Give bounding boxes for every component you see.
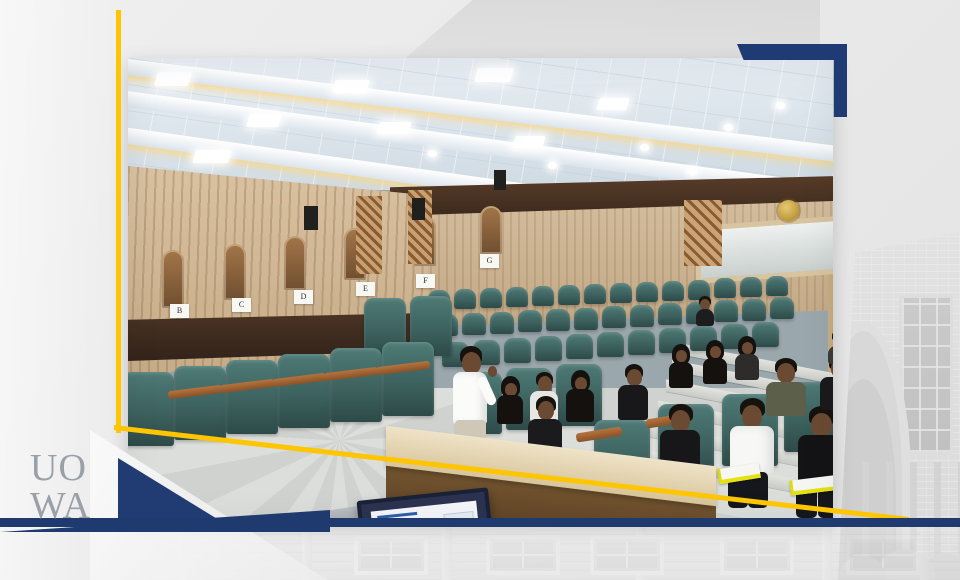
logo-line-2: WA bbox=[30, 488, 91, 524]
attendee-torso bbox=[828, 346, 833, 364]
ceiling-panel-light bbox=[332, 80, 370, 93]
seat bbox=[610, 283, 632, 303]
seat bbox=[574, 308, 598, 330]
seat bbox=[597, 332, 624, 357]
ceiling bbox=[128, 58, 833, 190]
attendee-head bbox=[710, 346, 721, 358]
facade-pilaster bbox=[920, 518, 930, 580]
presenter-head bbox=[462, 352, 481, 374]
logo-line-1: UO bbox=[30, 450, 91, 486]
wall-speaker bbox=[412, 198, 425, 220]
seat bbox=[740, 277, 762, 297]
facade-window bbox=[590, 535, 664, 575]
seat bbox=[546, 309, 570, 331]
seat bbox=[628, 330, 655, 355]
seat bbox=[226, 360, 278, 434]
building-bay-window bbox=[899, 295, 953, 455]
seat bbox=[506, 287, 528, 307]
attendee-head bbox=[538, 376, 552, 392]
attendee-torso bbox=[618, 385, 648, 420]
attendee-torso bbox=[735, 354, 759, 380]
attendee-head bbox=[627, 369, 642, 386]
seat bbox=[480, 288, 502, 308]
seat bbox=[462, 313, 486, 335]
ceiling-downlight bbox=[428, 150, 437, 157]
seat bbox=[454, 289, 476, 309]
seat bbox=[535, 336, 562, 361]
seat bbox=[602, 306, 626, 328]
seat bbox=[382, 342, 434, 416]
attendee bbox=[696, 296, 714, 326]
ceiling-downlight bbox=[724, 124, 733, 131]
wall-niche bbox=[480, 206, 502, 254]
bottom-navy-band bbox=[0, 518, 960, 527]
ceiling-downlight bbox=[548, 162, 557, 169]
seat bbox=[658, 303, 682, 325]
lecture-hall-photo: B C D E F G bbox=[128, 58, 833, 520]
seat bbox=[636, 282, 658, 302]
seat bbox=[330, 348, 382, 422]
ceiling-panel-light bbox=[376, 122, 411, 134]
facade-window bbox=[486, 535, 560, 575]
attendee bbox=[764, 358, 808, 416]
seat bbox=[532, 286, 554, 306]
brick-texture bbox=[838, 232, 960, 580]
uowa-logo: UO WA bbox=[30, 450, 91, 525]
attendee bbox=[618, 364, 648, 420]
attendee bbox=[496, 376, 524, 424]
facade-pilaster bbox=[442, 518, 452, 580]
yellow-vertical-rule bbox=[116, 10, 121, 433]
wall-emblem bbox=[778, 200, 799, 221]
ceiling-panel-light bbox=[192, 150, 232, 163]
attendee-head bbox=[538, 401, 554, 420]
attendee bbox=[702, 340, 728, 384]
attendee bbox=[566, 370, 594, 422]
attendee-head bbox=[777, 363, 795, 383]
attendee-torso bbox=[820, 377, 833, 410]
seat bbox=[490, 312, 514, 334]
seat bbox=[766, 276, 788, 296]
seat bbox=[518, 310, 542, 332]
attendee-head bbox=[742, 405, 762, 428]
campus-arch-watermark bbox=[838, 232, 960, 580]
hedge-row bbox=[838, 542, 960, 580]
wall-speaker bbox=[304, 206, 318, 230]
seat bbox=[504, 338, 531, 363]
seat bbox=[714, 300, 738, 322]
attendee bbox=[668, 344, 694, 388]
facade-window bbox=[354, 535, 428, 575]
facade-pilaster bbox=[636, 518, 646, 580]
seat bbox=[174, 366, 226, 440]
seat bbox=[714, 278, 736, 298]
seat bbox=[558, 285, 580, 305]
ceiling-panel-light bbox=[246, 114, 282, 127]
attendee-torso bbox=[497, 395, 523, 424]
seat bbox=[770, 297, 794, 319]
attendee-torso bbox=[566, 389, 594, 422]
attendee-torso bbox=[703, 358, 727, 384]
seat bbox=[630, 305, 654, 327]
attendee-head bbox=[811, 413, 832, 437]
attendee bbox=[734, 336, 760, 380]
attendee bbox=[796, 406, 833, 518]
ceiling-downlight bbox=[640, 144, 649, 151]
seat bbox=[566, 334, 593, 359]
facade-window bbox=[846, 535, 920, 575]
facade-pilaster bbox=[822, 518, 832, 580]
seat bbox=[742, 299, 766, 321]
seat bbox=[584, 284, 606, 304]
attendee-head bbox=[742, 342, 753, 354]
wall-speaker bbox=[494, 170, 506, 190]
attendee-torso bbox=[696, 309, 714, 326]
ceiling-panel-light bbox=[154, 72, 192, 86]
ceiling-panel-light bbox=[512, 136, 545, 148]
facade-window bbox=[720, 535, 794, 575]
seat bbox=[662, 281, 684, 301]
arch-building-graphic bbox=[838, 232, 960, 580]
attendee-head bbox=[676, 350, 687, 362]
banner-canvas: B C D E F G bbox=[0, 0, 960, 580]
seat bbox=[278, 354, 330, 428]
attendee-torso bbox=[766, 382, 806, 416]
attendee-head bbox=[671, 410, 690, 432]
ceiling-downlight bbox=[776, 102, 785, 109]
pointed-arch bbox=[838, 322, 911, 580]
attendee-torso bbox=[669, 362, 693, 388]
attendee bbox=[828, 330, 833, 364]
ceiling-downlight bbox=[688, 168, 697, 175]
ceiling-panel-light bbox=[474, 68, 514, 82]
ceiling-panel-light bbox=[596, 98, 629, 110]
